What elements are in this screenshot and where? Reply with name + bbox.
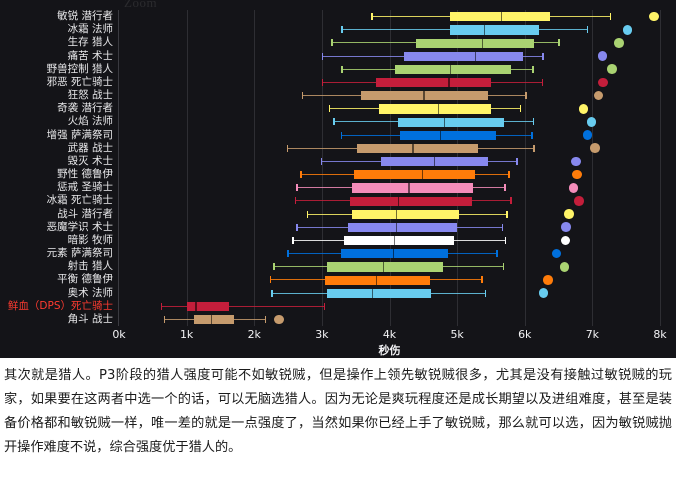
whisker-cap-min <box>164 316 166 323</box>
whisker-cap-min <box>271 290 273 297</box>
whisker-cap-max <box>502 224 504 231</box>
box-iqr[interactable] <box>348 223 458 232</box>
outlier-point[interactable] <box>572 170 582 180</box>
plot-area: 敏锐 潜行者冰霜 法师生存 猎人痛苦 术士野兽控制 猎人邪恶 死亡骑士狂怒 战士… <box>119 10 660 326</box>
whisker-cap-max <box>324 303 326 310</box>
boxplot-row[interactable]: 武器 战士 <box>119 142 660 155</box>
median-line <box>408 183 409 192</box>
median-line <box>383 262 384 271</box>
category-label[interactable]: 毁灭 术士 <box>68 155 113 168</box>
x-axis-tick: 3k <box>315 328 328 341</box>
median-line <box>450 65 451 74</box>
outlier-point[interactable] <box>587 117 597 127</box>
x-axis-tick: 8k <box>653 328 666 341</box>
box-iqr[interactable] <box>400 131 496 140</box>
outlier-point[interactable] <box>583 130 593 140</box>
boxplot-row[interactable]: 奇袭 潜行者 <box>119 102 660 115</box>
box-iqr[interactable] <box>379 104 491 113</box>
median-line <box>484 25 485 34</box>
median-line <box>434 157 435 166</box>
box-iqr[interactable] <box>344 236 454 245</box>
category-label[interactable]: 增强 萨满祭司 <box>47 129 113 142</box>
boxplot-row[interactable]: 奥术 法师 <box>119 287 660 300</box>
median-line <box>394 236 395 245</box>
whisker-cap-max <box>531 132 533 139</box>
whisker-line <box>161 306 325 307</box>
boxplot-row[interactable]: 鲜血（DPS）死亡骑士 <box>119 300 660 313</box>
median-line <box>438 104 439 113</box>
category-label[interactable]: 邪恶 死亡骑士 <box>47 76 113 89</box>
box-iqr[interactable] <box>450 12 550 21</box>
boxplot-row[interactable]: 冰霜 死亡骑士 <box>119 194 660 207</box>
whisker-cap-min <box>333 118 335 125</box>
boxplot-chart-panel: Zoom 敏锐 潜行者冰霜 法师生存 猎人痛苦 术士野兽控制 猎人邪恶 死亡骑士… <box>0 0 676 358</box>
box-iqr[interactable] <box>395 65 511 74</box>
box-iqr[interactable] <box>357 144 478 153</box>
whisker-cap-max <box>558 39 560 46</box>
boxplot-row[interactable]: 痛苦 术士 <box>119 50 660 63</box>
x-axis-tick: 7k <box>586 328 599 341</box>
x-axis: 秒伤 0k1k2k3k4k5k6k7k8k <box>119 326 660 358</box>
outlier-point[interactable] <box>598 51 608 61</box>
whisker-cap-max <box>532 66 534 73</box>
boxplot-row[interactable]: 野性 德鲁伊 <box>119 168 660 181</box>
whisker-cap-min <box>296 184 298 191</box>
median-line <box>376 276 377 285</box>
outlier-point[interactable] <box>607 64 617 74</box>
x-axis-title: 秒伤 <box>119 342 660 358</box>
whisker-cap-max <box>542 53 544 60</box>
whisker-cap-max <box>510 197 512 204</box>
whisker-cap-max <box>533 145 535 152</box>
whisker-cap-max <box>542 79 544 86</box>
boxplot-row[interactable]: 射击 猎人 <box>119 260 660 273</box>
article-text-block: 其次就是猎人。P3阶段的猎人强度可能不如敏锐贼，但是操作上领先敏锐贼很多，尤其是… <box>0 358 676 486</box>
outlier-point[interactable] <box>590 143 600 153</box>
x-axis-tick: 6k <box>518 328 531 341</box>
box-iqr[interactable] <box>187 302 229 311</box>
box-iqr[interactable] <box>327 262 443 271</box>
box-iqr[interactable] <box>354 170 475 179</box>
category-label[interactable]: 平衡 德鲁伊 <box>57 273 113 286</box>
boxplot-row[interactable]: 恶魔学识 术士 <box>119 221 660 234</box>
category-label[interactable]: 奇袭 潜行者 <box>57 102 113 115</box>
category-label[interactable]: 野兽控制 猎人 <box>47 63 113 76</box>
median-line <box>211 315 212 324</box>
median-line <box>422 170 423 179</box>
category-label[interactable]: 冰霜 死亡骑士 <box>47 194 113 207</box>
box-iqr[interactable] <box>376 78 491 87</box>
whisker-cap-max <box>505 237 507 244</box>
box-iqr[interactable] <box>398 118 503 127</box>
whisker-cap-max <box>525 92 527 99</box>
median-line <box>482 39 483 48</box>
whisker-cap-min <box>321 158 323 165</box>
whisker-cap-min <box>329 105 331 112</box>
x-axis-tick: 1k <box>180 328 193 341</box>
whisker-cap-min <box>287 250 289 257</box>
whisker-cap-max <box>496 250 498 257</box>
box-iqr[interactable] <box>352 183 472 192</box>
box-iqr[interactable] <box>194 315 234 324</box>
boxplot-rows: 敏锐 潜行者冰霜 法师生存 猎人痛苦 术士野兽控制 猎人邪恶 死亡骑士狂怒 战士… <box>119 10 660 326</box>
whisker-cap-min <box>161 303 163 310</box>
boxplot-row[interactable]: 野兽控制 猎人 <box>119 63 660 76</box>
whisker-cap-max <box>485 290 487 297</box>
median-line <box>195 302 196 311</box>
median-line <box>501 12 502 21</box>
whisker-cap-min <box>322 79 324 86</box>
whisker-cap-max <box>587 26 589 33</box>
outlier-point[interactable] <box>598 78 608 88</box>
boxplot-row[interactable]: 角斗 战士 <box>119 313 660 326</box>
boxplot-row[interactable]: 元素 萨满祭司 <box>119 247 660 260</box>
median-line <box>423 91 424 100</box>
box-iqr[interactable] <box>404 52 523 61</box>
outlier-point[interactable] <box>579 104 589 114</box>
whisker-cap-max <box>516 158 518 165</box>
whisker-cap-min <box>341 66 343 73</box>
outlier-point[interactable] <box>543 275 553 285</box>
category-label[interactable]: 野性 德鲁伊 <box>57 168 113 181</box>
boxplot-row[interactable]: 惩戒 圣骑士 <box>119 181 660 194</box>
whisker-cap-min <box>295 197 297 204</box>
outlier-point[interactable] <box>561 236 571 246</box>
outlier-point[interactable] <box>649 12 659 22</box>
boxplot-row[interactable]: 火焰 法师 <box>119 115 660 128</box>
box-iqr[interactable] <box>352 210 459 219</box>
box-iqr[interactable] <box>341 249 448 258</box>
whisker-cap-min <box>287 145 289 152</box>
category-label[interactable]: 元素 萨满祭司 <box>47 247 113 260</box>
outlier-point[interactable] <box>539 288 549 298</box>
outlier-point[interactable] <box>571 157 581 167</box>
boxplot-row[interactable]: 生存 猎人 <box>119 36 660 49</box>
whisker-cap-min <box>296 224 298 231</box>
median-line <box>396 223 397 232</box>
box-iqr[interactable] <box>327 289 431 298</box>
category-label[interactable]: 痛苦 术士 <box>68 50 113 63</box>
category-label[interactable]: 生存 猎人 <box>68 36 113 49</box>
median-line <box>393 249 394 258</box>
category-label[interactable]: 暗影 牧师 <box>68 234 113 247</box>
median-line <box>372 289 373 298</box>
box-iqr[interactable] <box>450 25 539 34</box>
x-axis-tick: 5k <box>450 328 463 341</box>
whisker-cap-max <box>610 13 612 20</box>
median-line <box>475 52 476 61</box>
box-iqr[interactable] <box>325 276 430 285</box>
boxplot-row[interactable]: 平衡 德鲁伊 <box>119 273 660 286</box>
x-axis-tick: 2k <box>248 328 261 341</box>
box-iqr[interactable] <box>350 197 472 206</box>
x-axis-tick: 0k <box>112 328 125 341</box>
boxplot-row[interactable]: 冰霜 法师 <box>119 23 660 36</box>
median-line <box>396 210 397 219</box>
category-label[interactable]: 惩戒 圣骑士 <box>57 181 113 194</box>
x-axis-tick: 4k <box>383 328 396 341</box>
whisker-cap-max <box>508 171 510 178</box>
gridline <box>660 10 661 326</box>
whisker-cap-min <box>307 211 309 218</box>
whisker-cap-max <box>503 263 505 270</box>
outlier-point[interactable] <box>560 262 570 272</box>
category-label[interactable]: 角斗 战士 <box>68 313 113 326</box>
whisker-cap-min <box>273 263 275 270</box>
boxplot-row[interactable]: 增强 萨满祭司 <box>119 129 660 142</box>
category-label[interactable]: 鲜血（DPS）死亡骑士 <box>8 300 113 313</box>
boxplot-row[interactable]: 邪恶 死亡骑士 <box>119 76 660 89</box>
whisker-cap-min <box>331 39 333 46</box>
whisker-cap-min <box>341 26 343 33</box>
whisker-cap-min <box>292 237 294 244</box>
outlier-point[interactable] <box>614 38 624 48</box>
whisker-cap-max <box>504 184 506 191</box>
article-paragraph: 其次就是猎人。P3阶段的猎人强度可能不如敏锐贼，但是操作上领先敏锐贼很多，尤其是… <box>4 364 672 460</box>
category-label[interactable]: 恶魔学识 术士 <box>47 221 113 234</box>
outlier-point[interactable] <box>623 25 633 35</box>
outlier-point[interactable] <box>564 209 574 219</box>
whisker-cap-min <box>270 276 272 283</box>
median-line <box>448 78 449 87</box>
category-label[interactable]: 火焰 法师 <box>68 115 113 128</box>
median-line <box>398 197 399 206</box>
outlier-point[interactable] <box>561 222 571 232</box>
boxplot-row[interactable]: 敏锐 潜行者 <box>119 10 660 23</box>
whisker-cap-min <box>341 132 343 139</box>
page-root: Zoom 敏锐 潜行者冰霜 法师生存 猎人痛苦 术士野兽控制 猎人邪恶 死亡骑士… <box>0 0 676 486</box>
whisker-cap-min <box>371 13 373 20</box>
whisker-cap-min <box>300 171 302 178</box>
outlier-point[interactable] <box>274 315 284 325</box>
box-iqr[interactable] <box>416 39 534 48</box>
boxplot-row[interactable]: 暗影 牧师 <box>119 234 660 247</box>
whisker-cap-max <box>481 276 483 283</box>
category-label[interactable]: 武器 战士 <box>68 142 113 155</box>
category-label[interactable]: 战斗 潜行者 <box>57 208 113 221</box>
outlier-point[interactable] <box>594 91 604 101</box>
whisker-cap-max <box>265 316 267 323</box>
whisker-cap-min <box>322 53 324 60</box>
median-line <box>444 118 445 127</box>
outlier-point[interactable] <box>552 249 562 259</box>
outlier-point[interactable] <box>569 183 579 193</box>
category-label[interactable]: 敏锐 潜行者 <box>57 10 113 23</box>
category-label[interactable]: 奥术 法师 <box>68 287 113 300</box>
category-label[interactable]: 射击 猎人 <box>68 260 113 273</box>
boxplot-row[interactable]: 毁灭 术士 <box>119 155 660 168</box>
outlier-point[interactable] <box>574 196 584 206</box>
whisker-cap-min <box>302 92 304 99</box>
category-label[interactable]: 狂怒 战士 <box>68 89 113 102</box>
whisker-cap-max <box>506 211 508 218</box>
boxplot-row[interactable]: 狂怒 战士 <box>119 89 660 102</box>
median-line <box>412 144 413 153</box>
whisker-cap-max <box>520 105 522 112</box>
whisker-cap-max <box>533 118 535 125</box>
boxplot-row[interactable]: 战斗 潜行者 <box>119 208 660 221</box>
category-label[interactable]: 冰霜 法师 <box>68 23 113 36</box>
median-line <box>440 131 441 140</box>
